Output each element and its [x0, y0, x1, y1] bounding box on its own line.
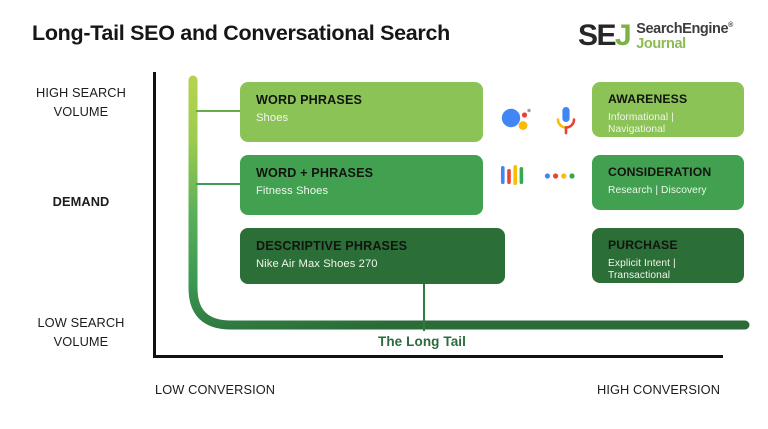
- card-purchase[interactable]: PURCHASE Explicit Intent | Transactional: [592, 228, 744, 283]
- y-axis-label-low-volume: LOW SEARCH VOLUME: [22, 314, 140, 351]
- infographic-canvas: Long-Tail SEO and Conversational Search …: [0, 0, 768, 429]
- card-word-phrases-example: Shoes: [256, 112, 469, 125]
- sej-logo-mark: SEJ: [578, 21, 630, 51]
- y-axis-line: [153, 72, 156, 358]
- card-consideration-title: CONSIDERATION: [608, 165, 730, 179]
- google-assistant-icon: [500, 106, 532, 136]
- sej-logo-searchengine-text: SearchEngine: [636, 21, 728, 37]
- y-axis-label-high-volume: HIGH SEARCH VOLUME: [22, 84, 140, 121]
- page-title: Long-Tail SEO and Conversational Search: [32, 21, 450, 46]
- icon-row-assistant: [500, 104, 578, 138]
- card-consideration[interactable]: CONSIDERATION Research | Discovery: [592, 155, 744, 210]
- card-purchase-subtitle: Explicit Intent | Transactional: [608, 258, 730, 281]
- sej-logo-mark-j: J: [615, 19, 630, 52]
- card-descriptive-phrases-example: Nike Air Max Shoes 270: [256, 258, 491, 271]
- google-voice-equalizer-icon: [498, 163, 528, 189]
- sej-logo-mark-se: SE: [578, 19, 615, 52]
- google-microphone-icon: [554, 105, 578, 137]
- card-descriptive-phrases-title: DESCRIPTIVE PHRASES: [256, 239, 491, 253]
- card-word-plus-phrases-title: WORD + PHRASES: [256, 166, 469, 180]
- card-consideration-subtitle: Research | Discovery: [608, 185, 730, 197]
- card-word-plus-phrases[interactable]: WORD + PHRASES Fitness Shoes: [240, 155, 483, 215]
- x-axis-label-high-conversion: HIGH CONVERSION: [597, 382, 720, 397]
- card-awareness-title: AWARENESS: [608, 92, 730, 106]
- connector-line-word-phrases: [196, 110, 242, 112]
- sej-logo-wordmark: SearchEngine® Journal: [636, 21, 733, 52]
- card-word-plus-phrases-example: Fitness Shoes: [256, 185, 469, 198]
- card-awareness-subtitle: Informational | Navigational: [608, 112, 730, 135]
- long-tail-annotation: The Long Tail: [332, 334, 512, 349]
- card-descriptive-phrases[interactable]: DESCRIPTIVE PHRASES Nike Air Max Shoes 2…: [240, 228, 505, 284]
- card-word-phrases[interactable]: WORD PHRASES Shoes: [240, 82, 483, 142]
- connector-line-descriptive-phrases: [423, 283, 425, 331]
- sej-logo-journal: Journal: [636, 37, 733, 52]
- sej-logo-searchengine: SearchEngine®: [636, 22, 733, 37]
- sej-logo: SEJ SearchEngine® Journal: [578, 17, 746, 55]
- card-purchase-title: PURCHASE: [608, 238, 730, 252]
- connector-line-word-plus-phrases: [196, 183, 242, 185]
- card-awareness[interactable]: AWARENESS Informational | Navigational: [592, 82, 744, 137]
- y-axis-label-demand: DEMAND: [22, 193, 140, 212]
- registered-trademark-icon: ®: [728, 22, 733, 29]
- card-word-phrases-title: WORD PHRASES: [256, 93, 469, 107]
- google-four-dots-icon: [544, 171, 578, 181]
- icon-row-voice: [498, 162, 578, 190]
- x-axis-line: [153, 355, 723, 358]
- x-axis-label-low-conversion: LOW CONVERSION: [155, 382, 275, 397]
